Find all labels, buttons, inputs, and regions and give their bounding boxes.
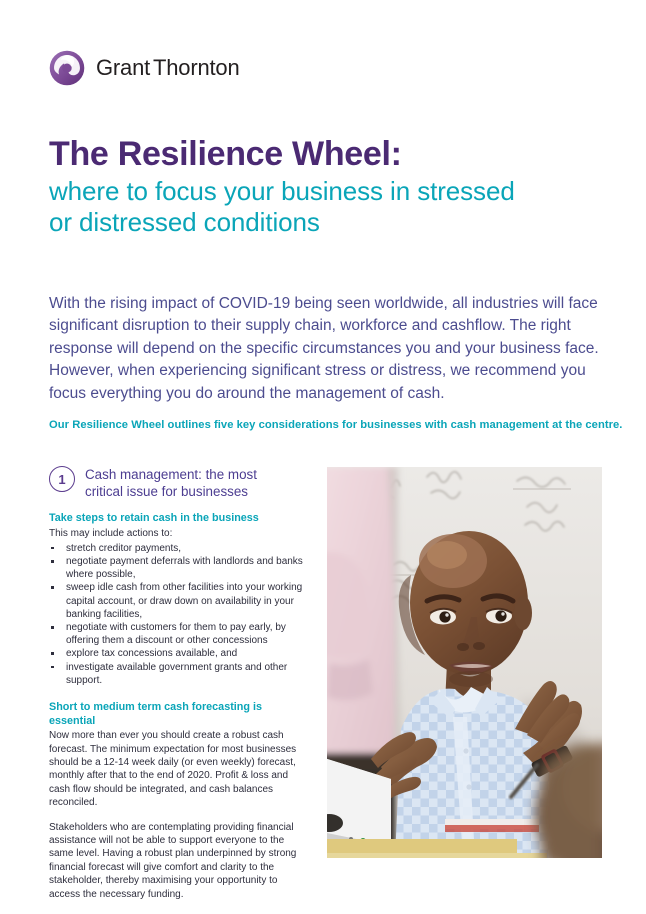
retain-cash-intro: This may include actions to: [49, 527, 311, 540]
intro-paragraph: With the rising impact of COVID-19 being… [49, 293, 611, 406]
section-title-line1: Cash management: the most [85, 467, 257, 482]
retain-cash-bullet-list: stretch creditor payments, negotiate pay… [49, 542, 311, 687]
brand-name-part2: Thornton [153, 55, 239, 80]
page-title: The Resilience Wheel: [49, 134, 615, 174]
subheading-retain-cash: Take steps to retain cash in the busines… [49, 512, 311, 526]
page-subtitle-line2: or distressed conditions [49, 207, 615, 238]
section-title-line2: critical issue for businesses [85, 484, 248, 499]
page-subtitle: where to focus your business in stressed… [49, 176, 615, 238]
brand-name: GrantThornton [96, 55, 240, 81]
cash-forecasting-paragraph: Now more than ever you should create a r… [49, 729, 311, 809]
section-title: Cash management: the most critical issue… [85, 464, 257, 500]
page-subtitle-line1: where to focus your business in stressed [49, 176, 615, 207]
grant-thornton-swirl-icon [49, 50, 85, 86]
list-item: negotiate payment deferrals with landlor… [49, 555, 311, 581]
meeting-photo [327, 467, 602, 858]
left-content-column: Take steps to retain cash in the busines… [49, 512, 311, 901]
section-heading: 1 Cash management: the most critical iss… [49, 464, 314, 500]
section-number-badge: 1 [49, 466, 75, 492]
lead-statement: Our Resilience Wheel outlines five key c… [49, 419, 615, 431]
stakeholders-paragraph: Stakeholders who are contemplating provi… [49, 821, 311, 901]
list-item: explore tax concessions available, and [49, 647, 311, 660]
list-item: negotiate with customers for them to pay… [49, 621, 311, 647]
brand-name-part1: Grant [96, 55, 150, 80]
list-item: stretch creditor payments, [49, 542, 311, 555]
brand-logo: GrantThornton [49, 50, 240, 86]
page-title-block: The Resilience Wheel: where to focus you… [49, 134, 615, 238]
subheading-cash-forecasting: Short to medium term cash forecasting is… [49, 701, 311, 728]
list-item: sweep idle cash from other facilities in… [49, 581, 311, 621]
list-item: investigate available government grants … [49, 661, 311, 687]
